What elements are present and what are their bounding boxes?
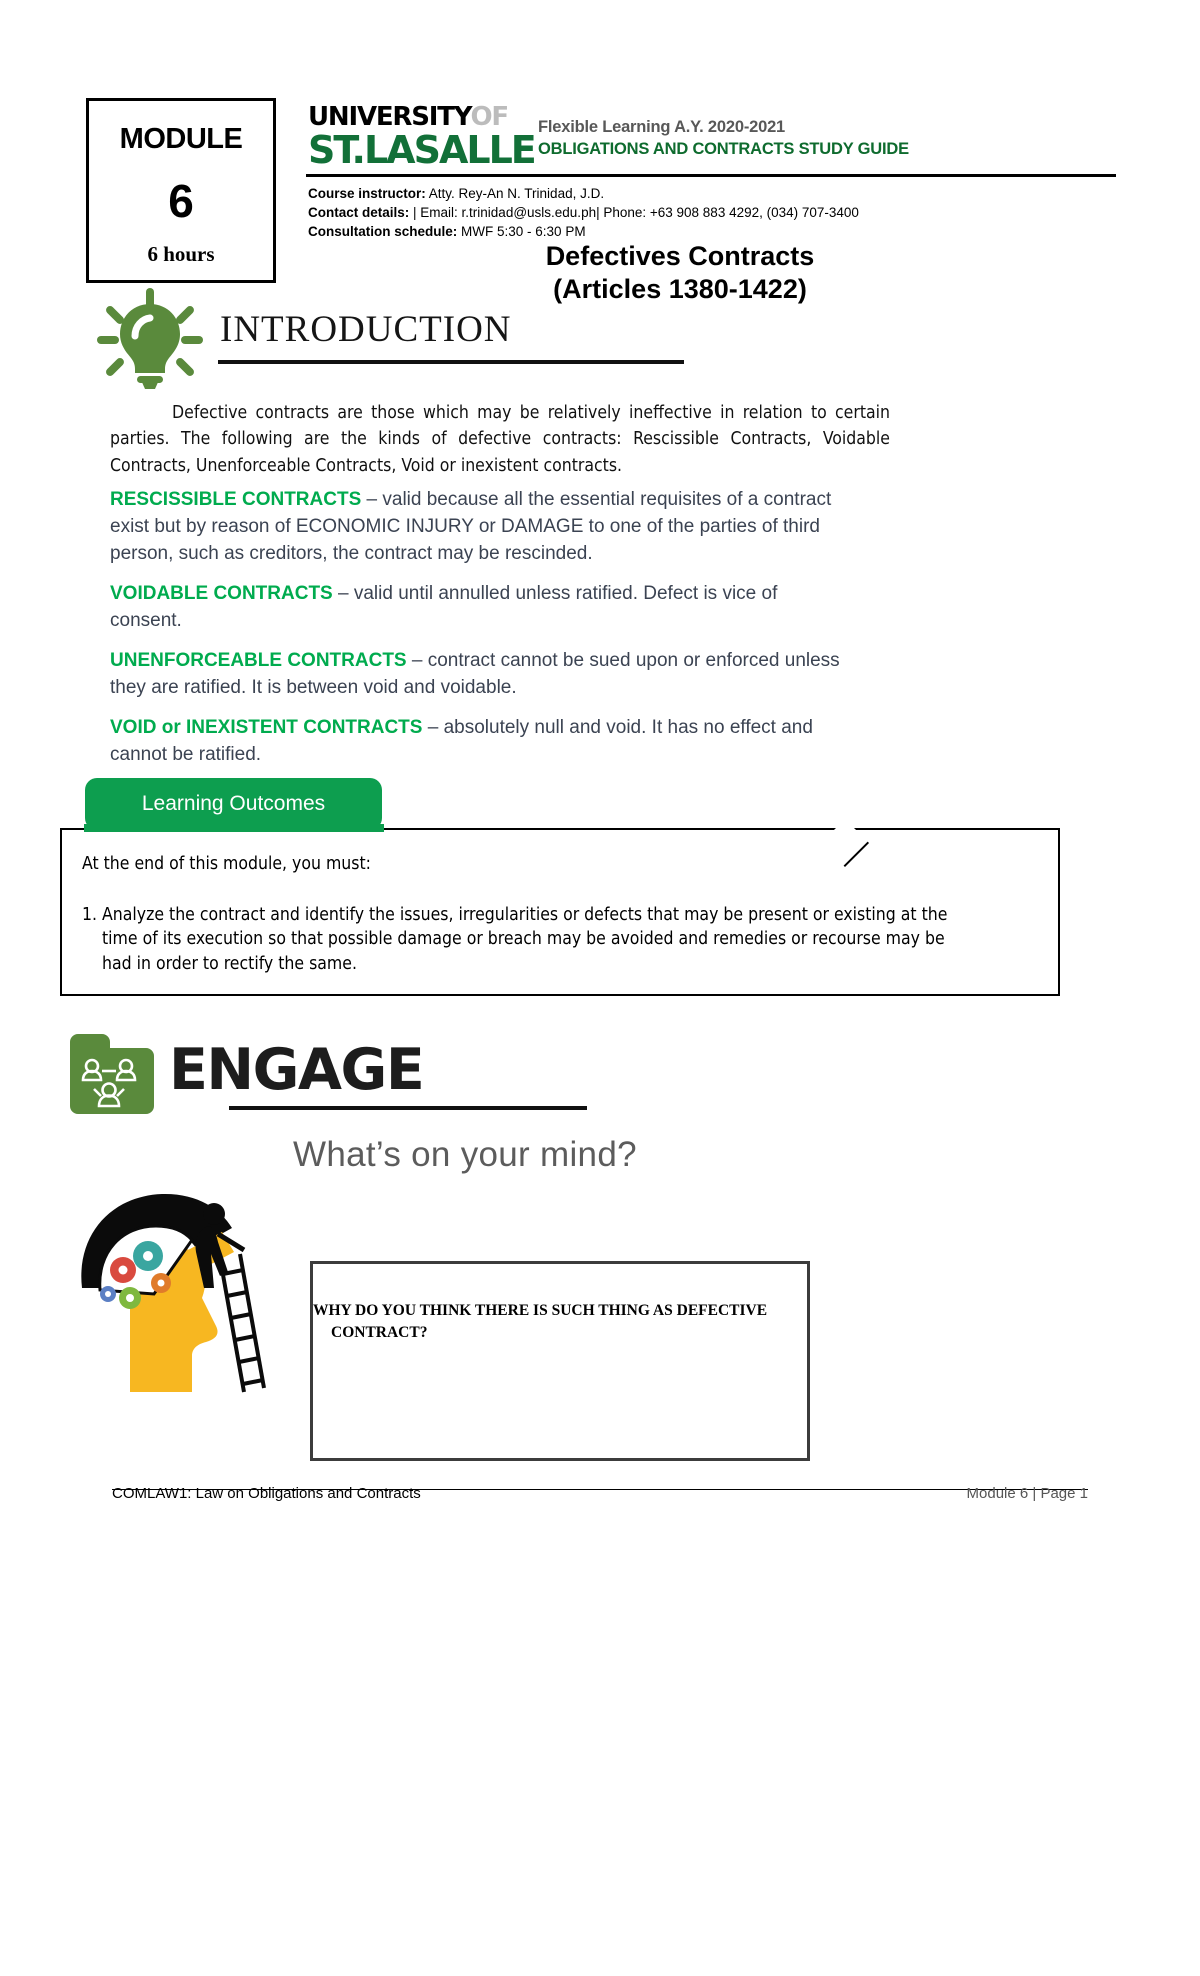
engage-heading-block: ENGAGE xyxy=(66,1030,606,1120)
engage-folder-people-icon xyxy=(66,1030,158,1123)
university-logo: UNIVERSITYOF ST.LASALLE xyxy=(308,104,535,169)
engage-prompt: What’s on your mind? xyxy=(293,1135,637,1175)
engage-question-line-1: WHY DO YOU THINK THERE IS SUCH THING AS … xyxy=(313,1302,767,1319)
course-instructor-value: Atty. Rey-An N. Trinidad, J.D. xyxy=(429,186,604,201)
logo-line-1: UNIVERSITYOF xyxy=(308,104,535,130)
introduction-title: INTRODUCTION xyxy=(220,308,512,351)
learning-outcomes-tab-cover xyxy=(84,824,384,832)
contact-details-label: Contact details: xyxy=(308,205,409,220)
introduction-heading-block: INTRODUCTION xyxy=(95,286,615,386)
module-hours: 6 hours xyxy=(147,242,214,267)
study-guide-text: OBLIGATIONS AND CONTRACTS STUDY GUIDE xyxy=(538,140,1098,159)
definition-item: UNENFORCEABLE CONTRACTS – contract canno… xyxy=(110,648,845,702)
introduction-underline xyxy=(218,360,684,364)
engage-question-line-2: CONTRACT? xyxy=(313,1322,793,1344)
flexible-learning-text: Flexible Learning A.Y. 2020-2021 xyxy=(538,118,1098,137)
course-instructor-label: Course instructor: xyxy=(308,186,426,201)
lightbulb-icon xyxy=(95,286,205,396)
contact-details-value: | Email: r.trinidad@usls.edu.ph| Phone: … xyxy=(413,205,859,220)
course-instructor-line: Course instructor: Atty. Rey-An N. Trini… xyxy=(308,184,859,203)
learning-outcome-text: Analyze the contract and identify the is… xyxy=(102,903,962,977)
consultation-label: Consultation schedule: xyxy=(308,224,457,239)
definition-term: VOIDABLE CONTRACTS xyxy=(110,583,333,604)
consultation-line: Consultation schedule: MWF 5:30 - 6:30 P… xyxy=(308,222,859,241)
definition-item: VOIDABLE CONTRACTS – valid until annulle… xyxy=(110,581,845,635)
flexible-learning-block: Flexible Learning A.Y. 2020-2021 OBLIGAT… xyxy=(538,118,1098,159)
engage-answer-box[interactable] xyxy=(310,1261,810,1461)
header-divider xyxy=(306,174,1116,177)
definition-item: VOID or INEXISTENT CONTRACTS – absolutel… xyxy=(110,715,845,769)
document-page: MODULE 6 6 hours UNIVERSITYOF ST.LASALLE… xyxy=(0,0,1200,1976)
definition-term: RESCISSIBLE CONTRACTS xyxy=(110,489,361,510)
learning-outcomes-intro: At the end of this module, you must: xyxy=(82,852,962,877)
page-title-line-1: Defectives Contracts xyxy=(310,240,1050,273)
learning-outcome-number: 1. xyxy=(82,903,102,977)
module-box: MODULE 6 6 hours xyxy=(86,98,276,283)
logo-line-2: ST.LASALLE xyxy=(308,131,535,169)
learning-outcomes-content: At the end of this module, you must: 1. … xyxy=(82,852,962,976)
engage-underline xyxy=(229,1106,587,1110)
module-label: MODULE xyxy=(120,123,243,156)
introduction-paragraph: Defective contracts are those which may … xyxy=(110,400,890,479)
footer-page-number: Module 6 | Page 1 xyxy=(967,1485,1088,1502)
learning-outcomes-tab: Learning Outcomes xyxy=(85,778,382,830)
definition-term: UNENFORCEABLE CONTRACTS xyxy=(110,650,407,671)
footer-course-name: COMLAW1: Law on Obligations and Contract… xyxy=(112,1485,421,1502)
course-info-block: Course instructor: Atty. Rey-An N. Trini… xyxy=(308,184,859,241)
definition-term: VOID or INEXISTENT CONTRACTS xyxy=(110,717,422,738)
learning-outcomes-tab-label: Learning Outcomes xyxy=(142,792,325,816)
engage-title: ENGAGE xyxy=(169,1037,423,1103)
learning-outcome-item: 1. Analyze the contract and identify the… xyxy=(82,903,962,977)
definition-item: RESCISSIBLE CONTRACTS – valid because al… xyxy=(110,487,845,568)
module-number: 6 xyxy=(168,178,194,224)
contract-definitions-list: RESCISSIBLE CONTRACTS – valid because al… xyxy=(110,487,845,782)
introduction-paragraph-text: Defective contracts are those which may … xyxy=(110,403,890,476)
engage-question-text: WHY DO YOU THINK THERE IS SUCH THING AS … xyxy=(313,1300,793,1345)
consultation-value: MWF 5:30 - 6:30 PM xyxy=(461,224,586,239)
contact-details-line: Contact details: | Email: r.trinidad@usl… xyxy=(308,203,859,222)
open-mind-illustration xyxy=(68,1138,278,1413)
